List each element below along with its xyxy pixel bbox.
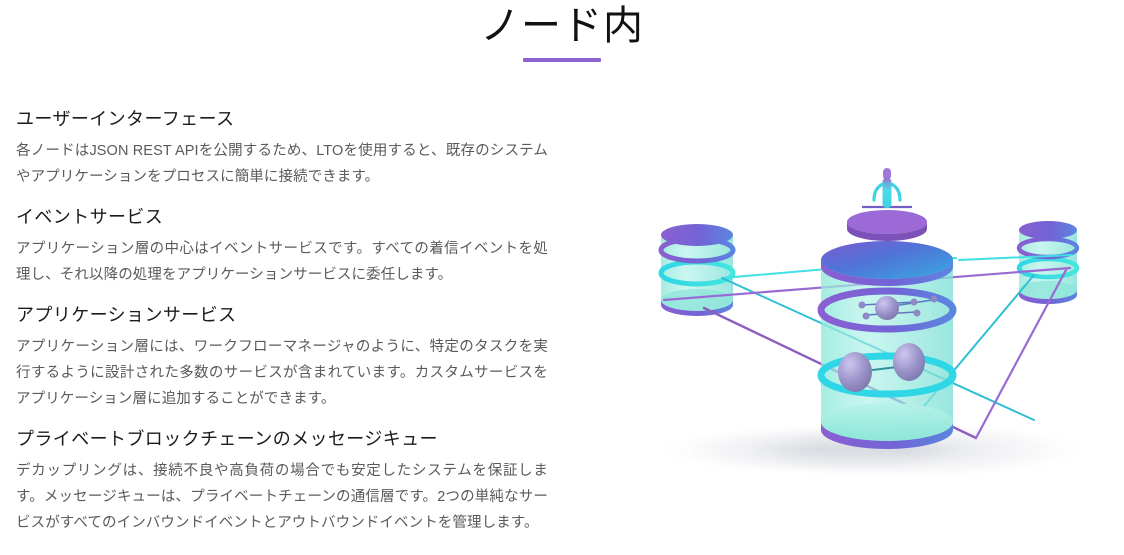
section-body: デカップリングは、接続不良や高負荷の場合でも安定したシステムを保証します。メッセ…: [16, 458, 548, 536]
section-heading: イベントサービス: [16, 204, 556, 230]
section-event-service: イベントサービス アプリケーション層の中心はイベントサービスです。すべての着信イ…: [16, 204, 556, 288]
left-cylinder-top-disc: [661, 224, 733, 246]
molecule-node: [911, 299, 918, 306]
molecule-node: [931, 296, 938, 303]
page-header: ノード内: [0, 0, 1124, 62]
section-heading: アプリケーションサービス: [16, 302, 556, 328]
left-database-cylinder: [661, 224, 733, 316]
queue-node-right: [893, 343, 925, 381]
platform-disc-face: [847, 210, 927, 234]
user-figure-arm-right: [891, 184, 900, 200]
node-architecture-svg: [604, 150, 1124, 555]
molecule-node: [863, 313, 870, 320]
node-architecture-illustration: [604, 150, 1124, 555]
section-message-queue: プライベートブロックチェーンのメッセージキュー デカップリングは、接続不良や高負…: [16, 426, 556, 536]
right-database-cylinder: [1019, 221, 1077, 304]
queue-node-left: [838, 352, 872, 392]
right-cylinder-top-disc: [1019, 221, 1077, 239]
user-interface-platform: [847, 210, 927, 241]
molecule-node: [859, 302, 866, 309]
section-body: アプリケーション層の中心はイベントサービスです。すべての着信イベントを処理し、そ…: [16, 236, 548, 288]
section-application-service: アプリケーションサービス アプリケーション層には、ワークフローマネージャのように…: [16, 302, 556, 412]
title-underline-accent: [523, 58, 601, 62]
user-figure-body: [883, 178, 892, 208]
user-figure-icon: [862, 168, 912, 208]
section-heading: プライベートブロックチェーンのメッセージキュー: [16, 426, 556, 452]
user-figure-arm-left: [874, 184, 883, 200]
page-title: ノード内: [0, 0, 1124, 50]
section-user-interface: ユーザーインターフェース 各ノードはJSON REST APIを公開するため、L…: [16, 106, 556, 190]
section-body: 各ノードはJSON REST APIを公開するため、LTOを使用すると、既存のシ…: [16, 138, 548, 190]
content-column: ユーザーインターフェース 各ノードはJSON REST APIを公開するため、L…: [16, 106, 556, 536]
molecule-node: [914, 310, 921, 317]
section-heading: ユーザーインターフェース: [16, 106, 556, 132]
section-body: アプリケーション層には、ワークフローマネージャのように、特定のタスクを実行するよ…: [16, 334, 548, 412]
